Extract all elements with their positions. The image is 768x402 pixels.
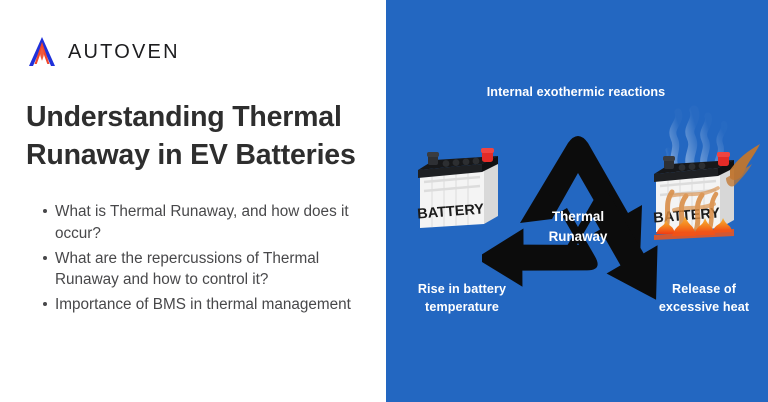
- burning-car-battery-icon: BATTERY: [644, 100, 768, 240]
- list-item: Importance of BMS in thermal management: [45, 294, 360, 316]
- brand-lockup: AUTOVEN: [26, 34, 360, 70]
- left-content-panel: AUTOVEN Understanding Thermal Runaway in…: [0, 0, 386, 402]
- page-title: Understanding Thermal Runaway in EV Batt…: [26, 99, 360, 175]
- autoven-chevron-flame-logo-icon: [26, 35, 58, 69]
- list-item: What are the repercussions of Thermal Ru…: [45, 248, 360, 292]
- diagram-label-internal-exothermic-reactions: Internal exothermic reactions: [476, 83, 676, 101]
- list-item: What is Thermal Runaway, and how does it…: [45, 201, 360, 245]
- topic-list: What is Thermal Runaway, and how does it…: [26, 201, 360, 316]
- thermal-runaway-diagram-panel: Internal exothermic reactions Rise in ba…: [386, 0, 768, 402]
- diagram-center-label: Thermal Runaway: [530, 207, 626, 247]
- slide-canvas: AUTOVEN Understanding Thermal Runaway in…: [0, 0, 768, 402]
- brand-name: AUTOVEN: [68, 42, 180, 62]
- car-battery-icon: BATTERY: [408, 136, 508, 236]
